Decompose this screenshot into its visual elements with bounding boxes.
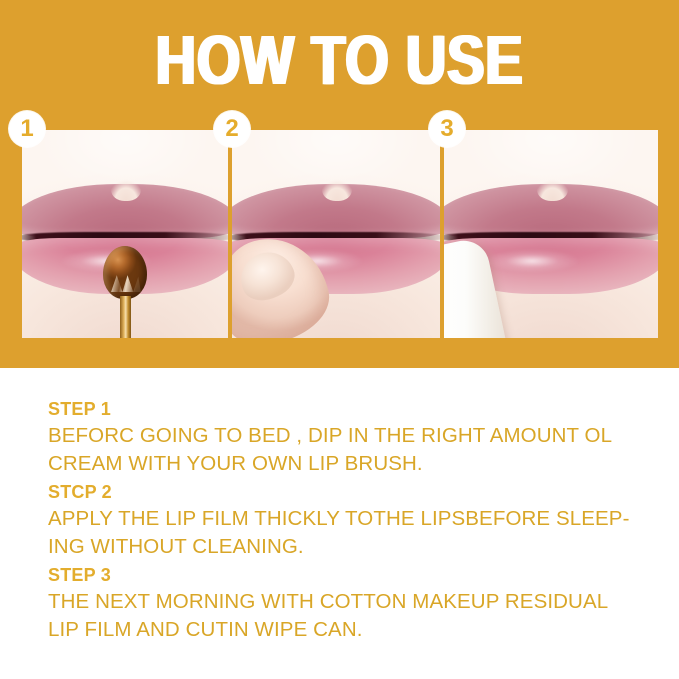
upper-lip-icon: [22, 184, 228, 238]
step-2-heading: STCP 2: [48, 479, 648, 505]
step-badge-3: 3: [429, 111, 465, 147]
step-photo-3: [444, 130, 658, 338]
step-photo-strip: [22, 130, 658, 338]
step-photo-1: [22, 130, 228, 338]
applicator-bulb-icon: [103, 246, 147, 299]
step-2-body: APPLY THE LIP FILM THICKLY TOTHE LIPSBEF…: [48, 505, 648, 561]
step-3-heading: STEP 3: [48, 562, 648, 588]
step-1-body: BEFORC GOING TO BED , DIP IN THE RIGHT A…: [48, 422, 648, 478]
step-3-body: THE NEXT MORNING WITH COTTON MAKEUP RESI…: [48, 588, 648, 644]
instructions-list: STEP 1 BEFORC GOING TO BED , DIP IN THE …: [48, 396, 648, 645]
page-title: HOW TO USE: [68, 24, 611, 96]
step-1-heading: STEP 1: [48, 396, 648, 422]
step-badge-2: 2: [214, 111, 250, 147]
step-photo-2: [232, 130, 440, 338]
upper-lip-icon: [444, 184, 658, 238]
step-badge-1: 1: [9, 111, 45, 147]
fingernail-icon: [233, 245, 300, 308]
upper-lip-icon: [232, 184, 440, 238]
how-to-use-infographic: HOW TO USE: [0, 0, 679, 679]
applicator-stem-icon: [120, 296, 131, 338]
